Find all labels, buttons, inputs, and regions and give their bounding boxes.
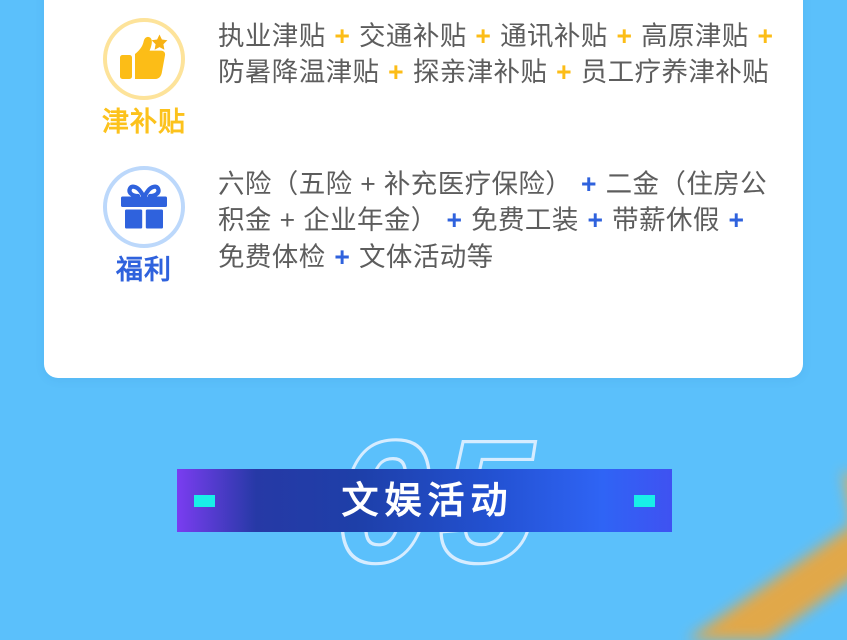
plus-separator-icon: + <box>728 205 746 235</box>
plus-separator-icon: + <box>615 21 633 51</box>
benefit-row-allowances: 津补贴 执业津贴 + 交通补贴 + 通讯补贴 + 高原津贴 + 防暑降温津贴 +… <box>70 16 777 136</box>
welfare-entry-5: 文体活动等 <box>359 242 494 272</box>
gift-box-icon <box>119 184 169 230</box>
plus-separator-icon: + <box>555 57 573 87</box>
benefit-row-welfare: 福利 六险（五险 + 补充医疗保险） + 二金（住房公积金 + 企业年金） + … <box>70 164 777 284</box>
allowance-entry-4: 防暑降温津贴 <box>218 57 379 87</box>
plus-separator-icon: + <box>333 21 351 51</box>
welfare-entry-0: 六险（五险 + 补充医疗保险） <box>218 169 572 199</box>
plus-separator-icon: + <box>474 21 492 51</box>
plus-separator-icon: + <box>445 205 463 235</box>
allowance-entry-2: 通讯补贴 <box>500 21 608 51</box>
allowance-text: 执业津贴 + 交通补贴 + 通讯补贴 + 高原津贴 + 防暑降温津贴 + 探亲津… <box>218 16 777 91</box>
allowance-entry-0: 执业津贴 <box>218 21 326 51</box>
welfare-entry-3: 带薪休假 <box>612 205 720 235</box>
welfare-caption: 福利 <box>116 257 172 284</box>
plus-separator-icon: + <box>580 169 598 199</box>
welfare-text: 六险（五险 + 补充医疗保险） + 二金（住房公积金 + 企业年金） + 免费工… <box>218 164 777 275</box>
cyan-square-accent-right-icon <box>634 495 655 507</box>
section-banner: 05 文娱活动 <box>0 404 847 600</box>
allowance-entry-6: 员工疗养津补贴 <box>581 57 769 87</box>
plus-separator-icon: + <box>587 205 605 235</box>
plus-separator-icon: + <box>756 21 774 51</box>
welfare-entry-4: 免费体检 <box>218 242 326 272</box>
allowance-icon-ring <box>103 18 185 100</box>
welfare-entry-2: 免费工装 <box>471 205 579 235</box>
benefit-icon-column: 福利 <box>70 164 218 284</box>
benefits-card: 津补贴 执业津贴 + 交通补贴 + 通讯补贴 + 高原津贴 + 防暑降温津贴 +… <box>44 0 803 378</box>
plus-separator-icon: + <box>333 242 351 272</box>
welfare-icon-ring <box>103 166 185 248</box>
benefit-icon-column: 津补贴 <box>70 16 218 136</box>
allowance-caption: 津补贴 <box>102 109 186 136</box>
section-title: 文娱活动 <box>336 482 514 519</box>
thumbs-up-star-icon <box>118 34 170 84</box>
cyan-square-accent-left-icon <box>194 495 215 507</box>
plus-separator-icon: + <box>387 57 405 87</box>
allowance-entry-3: 高原津贴 <box>641 21 749 51</box>
section-title-bar: 文娱活动 <box>177 469 672 532</box>
allowance-entry-1: 交通补贴 <box>359 21 467 51</box>
allowance-entry-5: 探亲津补贴 <box>413 57 548 87</box>
